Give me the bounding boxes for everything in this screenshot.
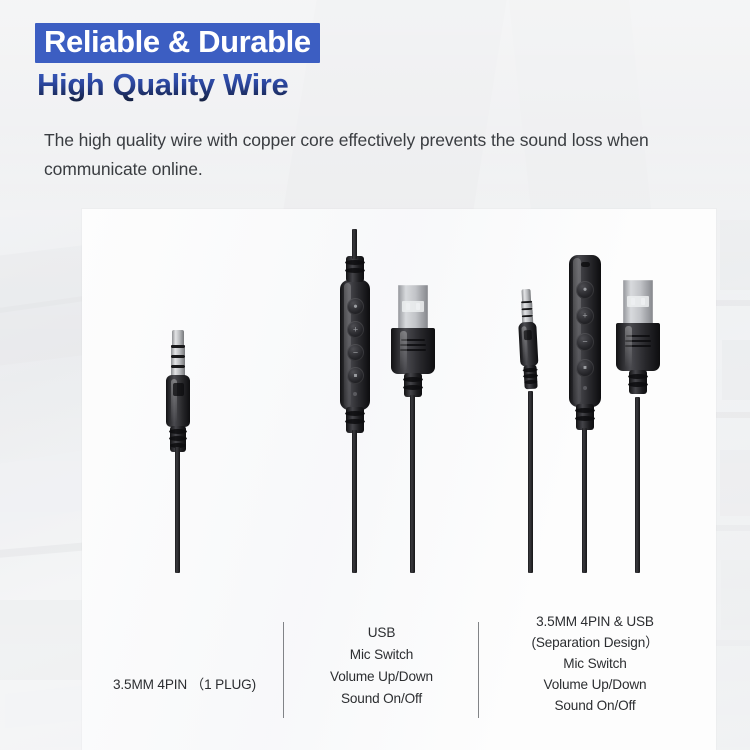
usb-hood-gloss: [400, 331, 407, 371]
jack-tip: [172, 330, 184, 346]
caption-usb: USB Mic Switch Volume Up/Down Sound On/O…: [294, 622, 469, 710]
relief-ridge: [345, 419, 365, 424]
sound-on-off-button[interactable]: ⏹: [576, 359, 594, 377]
caption-line: Volume Up/Down: [294, 666, 469, 688]
relief-ridge: [628, 382, 648, 387]
cable-strand: [582, 428, 587, 573]
relief-ridge: [345, 260, 365, 265]
mic-icon: ⏺: [354, 303, 358, 310]
volume-up-icon: +: [582, 312, 587, 321]
badge-label: Reliable & Durable: [44, 25, 311, 59]
sound-on-off-button[interactable]: ⏹: [347, 367, 364, 384]
subtitle-text: The high quality wire with copper core e…: [44, 126, 734, 184]
volume-up-button[interactable]: +: [576, 307, 594, 325]
relief-ridge: [403, 377, 423, 382]
badge-reliable-durable: Reliable & Durable: [35, 23, 320, 63]
volume-down-button[interactable]: −: [576, 333, 594, 351]
relief-ridge: [628, 374, 648, 379]
cable-strand: [175, 447, 180, 573]
relief-ridge: [403, 385, 423, 390]
caption-line: Sound On/Off: [294, 688, 469, 710]
header: Reliable & Durable High Quality Wire The…: [0, 0, 750, 200]
relief-ridge: [575, 416, 595, 421]
usb-metal-shell: [398, 285, 428, 329]
inline-control-module: ⏺ + − ⏹: [569, 255, 601, 407]
sound-icon: ⏹: [354, 372, 358, 379]
usb-hood-gloss: [625, 326, 632, 368]
volume-up-icon: +: [353, 325, 358, 334]
usb-hood: [391, 328, 435, 374]
jack-contact-ring: [171, 358, 185, 365]
jack-3-5mm-plug: [166, 330, 190, 450]
volume-up-button[interactable]: +: [347, 321, 364, 338]
relief-ridge: [575, 408, 595, 413]
cable-strand: [635, 397, 640, 573]
caption-line: (Separation Design）: [490, 632, 700, 653]
jack-logo-plate: [524, 330, 533, 340]
jack-contact-ring: [171, 348, 185, 355]
cable-strand: [528, 391, 533, 573]
caption-separation: 3.5MM 4PIN & USB (Separation Design） Mic…: [490, 611, 700, 716]
caption-divider: [478, 622, 479, 718]
volume-down-button[interactable]: −: [347, 344, 364, 361]
usb-a-plug: [391, 285, 435, 403]
cable-strand: [352, 430, 357, 573]
volume-down-icon: −: [582, 338, 587, 347]
product-panel: ⏺ + − ⏹: [82, 209, 716, 750]
usb-hood: [616, 323, 660, 371]
relief-ridge: [169, 436, 187, 441]
caption-divider: [283, 622, 284, 718]
status-led: [353, 392, 357, 396]
mic-switch-button[interactable]: ⏺: [576, 281, 594, 299]
page-title: High Quality Wire: [37, 66, 288, 104]
jack-logo-plate: [173, 383, 184, 396]
caption-line: 3.5MM 4PIN （1 PLUG): [92, 674, 277, 696]
cable-strand: [352, 229, 357, 259]
caption-line: USB: [294, 622, 469, 644]
status-led: [583, 386, 587, 390]
control-module-gloss: [573, 258, 580, 404]
sound-icon: ⏹: [583, 365, 587, 372]
relief-ridge: [345, 411, 365, 416]
usb-contact-pin: [641, 298, 645, 305]
volume-down-icon: −: [353, 348, 358, 357]
usb-metal-shell: [623, 280, 653, 324]
caption-line: Sound On/Off: [490, 695, 700, 716]
caption-line: Mic Switch: [294, 644, 469, 666]
relief-ridge: [169, 429, 187, 434]
usb-contact-pin: [406, 303, 410, 310]
usb-contact-pin: [416, 303, 420, 310]
caption-line: Volume Up/Down: [490, 674, 700, 695]
relief-ridge: [345, 268, 365, 273]
caption-line: Mic Switch: [490, 653, 700, 674]
mic-port-slot: [581, 262, 590, 267]
inline-control-module: ⏺ + − ⏹: [340, 280, 370, 410]
infographic-root: Reliable & Durable High Quality Wire The…: [0, 0, 750, 750]
caption-line: 3.5MM 4PIN & USB: [490, 611, 700, 632]
caption-3-5mm-only: 3.5MM 4PIN （1 PLUG): [92, 674, 277, 696]
mic-icon: ⏺: [583, 287, 587, 294]
usb-contact-pin: [631, 298, 635, 305]
usb-a-plug: [616, 280, 660, 402]
mic-switch-button[interactable]: ⏺: [347, 298, 364, 315]
cable-strand: [410, 395, 415, 573]
